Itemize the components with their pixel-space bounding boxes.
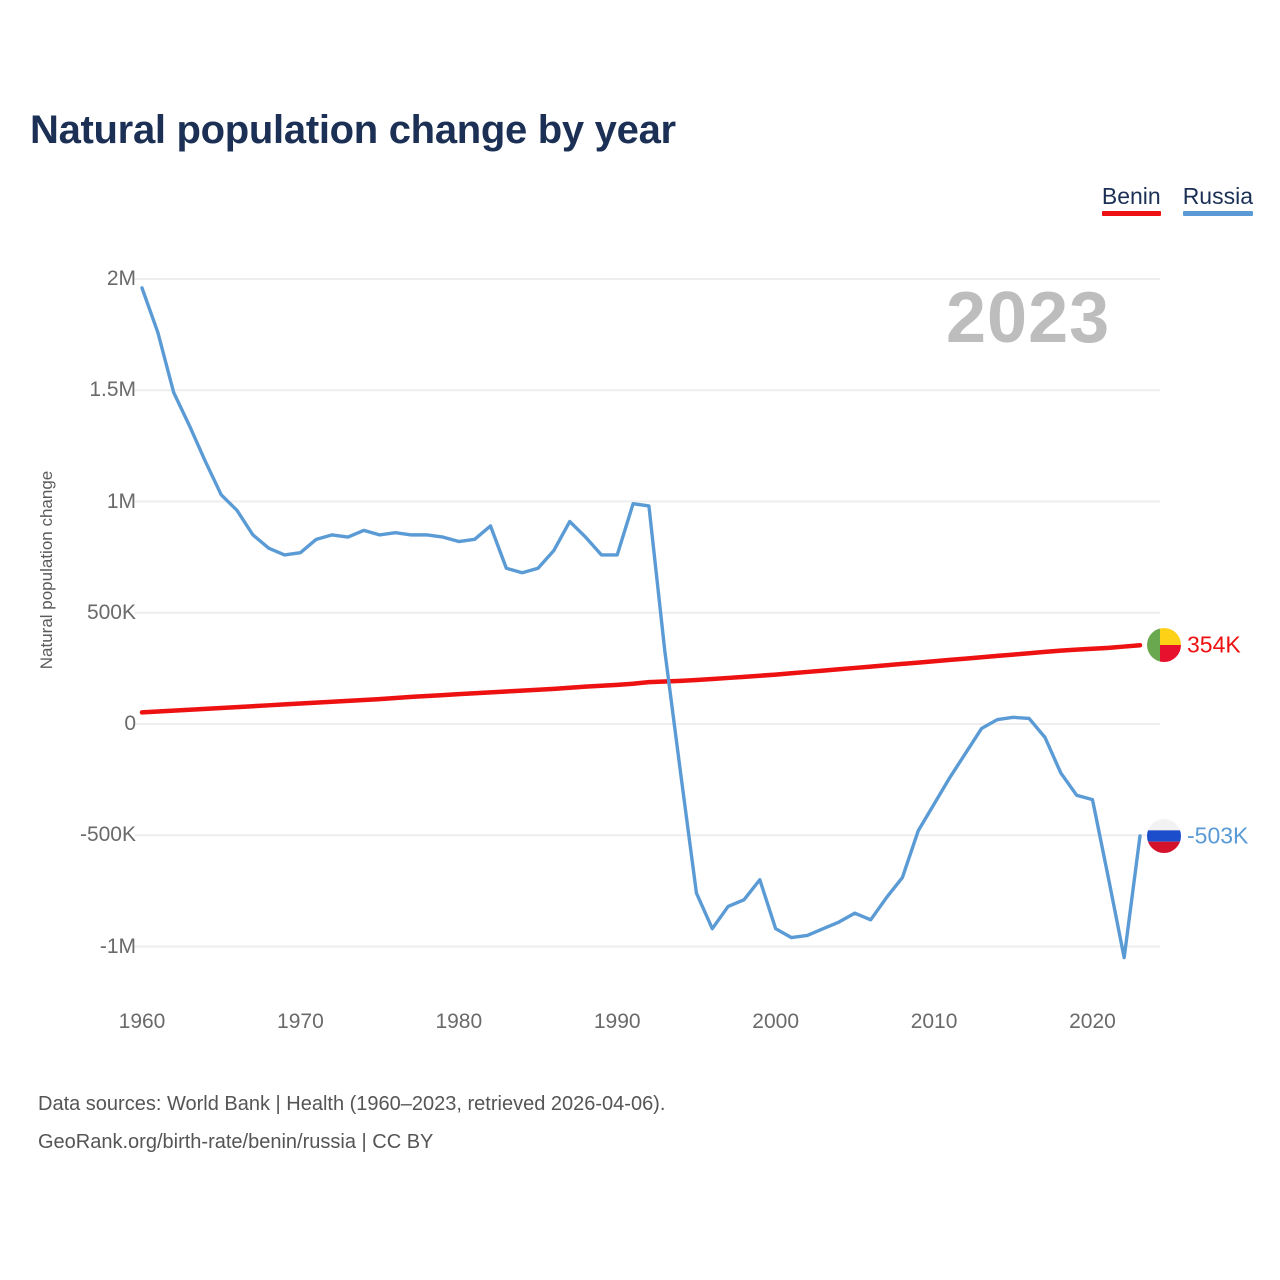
footer-line-link[interactable]: GeoRank.org/birth-rate/benin/russia | CC… [38,1123,665,1161]
y-axis-tick-label: 2M [26,267,136,291]
y-axis-tick-label: 1M [26,490,136,514]
benin-flag-icon [1147,628,1181,662]
x-axis-tick-label: 1990 [594,1010,641,1034]
footer-attribution: Data sources: World Bank | Health (1960–… [38,1085,665,1161]
x-axis-tick-label: 1960 [119,1010,166,1034]
x-axis-tick-label: 1980 [435,1010,482,1034]
x-axis-tick-label: 1970 [277,1010,324,1034]
y-axis-tick-label: 500K [26,601,136,625]
gridlines [134,279,1160,947]
data-series-layer [142,288,1140,958]
y-axis-tick-label: -500K [26,823,136,847]
footer-line-sources: Data sources: World Bank | Health (1960–… [38,1085,665,1123]
x-axis-tick-label: 2020 [1069,1010,1116,1034]
series-line-russia[interactable] [142,288,1140,958]
series-line-benin[interactable] [142,645,1140,712]
end-value-label-benin: 354K [1187,632,1241,659]
y-axis-tick-label: 0 [26,712,136,736]
x-axis-tick-label: 2010 [911,1010,958,1034]
y-axis-tick-label: -1M [26,935,136,959]
year-watermark: 2023 [946,277,1110,359]
x-axis-tick-label: 2000 [752,1010,799,1034]
end-value-label-russia: -503K [1187,822,1248,849]
y-axis-tick-label: 1.5M [26,378,136,402]
chart-page: Natural population change by year Benin … [0,0,1280,1280]
russia-flag-icon [1147,819,1181,853]
